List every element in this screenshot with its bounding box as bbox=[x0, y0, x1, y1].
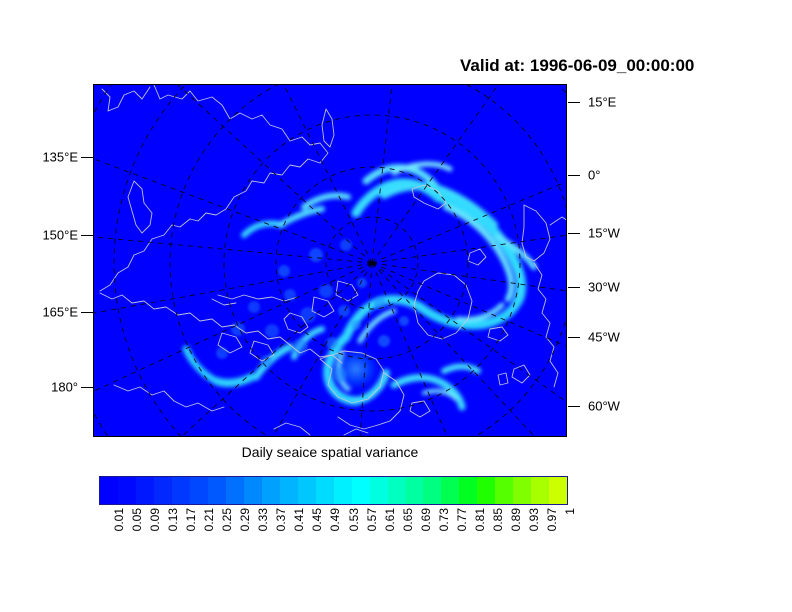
colorbar-swatch bbox=[262, 477, 280, 504]
axis-label-right-4: 45°W bbox=[588, 330, 620, 345]
colorbar-swatch bbox=[244, 477, 262, 504]
tick-left-0 bbox=[81, 157, 93, 158]
colorbar-tick-label: 0.17 bbox=[184, 508, 198, 531]
colorbar-tick-label: 0.05 bbox=[130, 508, 144, 531]
map-canvas bbox=[94, 85, 567, 437]
colorbar-swatch bbox=[190, 477, 208, 504]
colorbar-swatch bbox=[316, 477, 334, 504]
figure-canvas: Valid at: 1996-06-09_00:00:00 bbox=[0, 0, 792, 612]
tick-right-4 bbox=[568, 337, 580, 338]
colorbar-swatch bbox=[477, 477, 495, 504]
colorbar-swatch bbox=[208, 477, 226, 504]
colorbar-swatch bbox=[298, 477, 316, 504]
colorbar-swatch bbox=[441, 477, 459, 504]
colorbar-tick-label: 0.13 bbox=[166, 508, 180, 531]
colorbar-tick-label: 0.41 bbox=[292, 508, 306, 531]
colorbar-swatch bbox=[352, 477, 370, 504]
x-axis-label: Daily seaice spatial variance bbox=[93, 444, 567, 460]
colorbar-swatch bbox=[388, 477, 406, 504]
colorbar-tick-label: 0.29 bbox=[238, 508, 252, 531]
colorbar[interactable] bbox=[99, 476, 568, 505]
colorbar-swatch bbox=[495, 477, 513, 504]
colorbar-tick-label: 0.89 bbox=[509, 508, 523, 531]
colorbar-swatch bbox=[370, 477, 388, 504]
tick-right-0 bbox=[568, 102, 580, 103]
axis-label-right-2: 15°W bbox=[588, 226, 620, 241]
axis-label-left-3: 180° bbox=[51, 380, 78, 395]
tick-right-1 bbox=[568, 175, 580, 176]
tick-right-3 bbox=[568, 287, 580, 288]
colorbar-tick-label: 0.93 bbox=[527, 508, 541, 531]
colorbar-tick-label: 0.57 bbox=[365, 508, 379, 531]
colorbar-tick-label: 0.61 bbox=[383, 508, 397, 531]
colorbar-tick-label: 0.65 bbox=[401, 508, 415, 531]
colorbar-tick-label: 0.53 bbox=[347, 508, 361, 531]
tick-right-5 bbox=[568, 406, 580, 407]
colorbar-swatch bbox=[334, 477, 352, 504]
colorbar-tick-label: 0.97 bbox=[545, 508, 559, 531]
axis-label-right-5: 60°W bbox=[588, 399, 620, 414]
colorbar-tick-label: 0.85 bbox=[491, 508, 505, 531]
tick-right-2 bbox=[568, 233, 580, 234]
colorbar-tick-label: 0.77 bbox=[455, 508, 469, 531]
colorbar-tick-label: 0.21 bbox=[202, 508, 216, 531]
colorbar-tick-label: 0.33 bbox=[256, 508, 270, 531]
colorbar-swatch bbox=[513, 477, 531, 504]
colorbar-swatch bbox=[100, 477, 118, 504]
colorbar-swatch bbox=[405, 477, 423, 504]
tick-left-1 bbox=[81, 235, 93, 236]
pole-marker bbox=[370, 261, 373, 264]
colorbar-tick-label: 0.69 bbox=[419, 508, 433, 531]
colorbar-swatch bbox=[531, 477, 549, 504]
colorbar-swatches[interactable] bbox=[99, 476, 568, 505]
axis-label-right-0: 15°E bbox=[588, 95, 616, 110]
tick-left-2 bbox=[81, 312, 93, 313]
colorbar-swatch bbox=[423, 477, 441, 504]
colorbar-tick-label: 0.09 bbox=[148, 508, 162, 531]
axis-label-left-1: 150°E bbox=[42, 228, 78, 243]
colorbar-tick-label: 0.73 bbox=[437, 508, 451, 531]
colorbar-swatch bbox=[226, 477, 244, 504]
colorbar-tick-label: 0.37 bbox=[274, 508, 288, 531]
colorbar-swatch bbox=[549, 477, 567, 504]
colorbar-swatch bbox=[172, 477, 190, 504]
colorbar-swatch bbox=[280, 477, 298, 504]
colorbar-tick-label: 1 bbox=[563, 508, 577, 515]
colorbar-swatch bbox=[459, 477, 477, 504]
colorbar-tick-label: 0.45 bbox=[310, 508, 324, 531]
axis-label-right-1: 0° bbox=[588, 168, 600, 183]
colorbar-tick-label: 0.81 bbox=[473, 508, 487, 531]
colorbar-tick-labels: 0.010.050.090.130.170.210.250.290.330.37… bbox=[99, 508, 568, 566]
map-panel[interactable] bbox=[93, 84, 567, 437]
axis-label-right-3: 30°W bbox=[588, 280, 620, 295]
axis-label-left-0: 135°E bbox=[42, 150, 78, 165]
axis-label-left-2: 165°E bbox=[42, 305, 78, 320]
colorbar-swatch bbox=[154, 477, 172, 504]
tick-left-3 bbox=[81, 387, 93, 388]
colorbar-swatch bbox=[118, 477, 136, 504]
colorbar-tick-label: 0.49 bbox=[328, 508, 342, 531]
page-title: Valid at: 1996-06-09_00:00:00 bbox=[460, 56, 694, 76]
colorbar-tick-label: 0.25 bbox=[220, 508, 234, 531]
colorbar-swatch bbox=[136, 477, 154, 504]
colorbar-tick-label: 0.01 bbox=[112, 508, 126, 531]
